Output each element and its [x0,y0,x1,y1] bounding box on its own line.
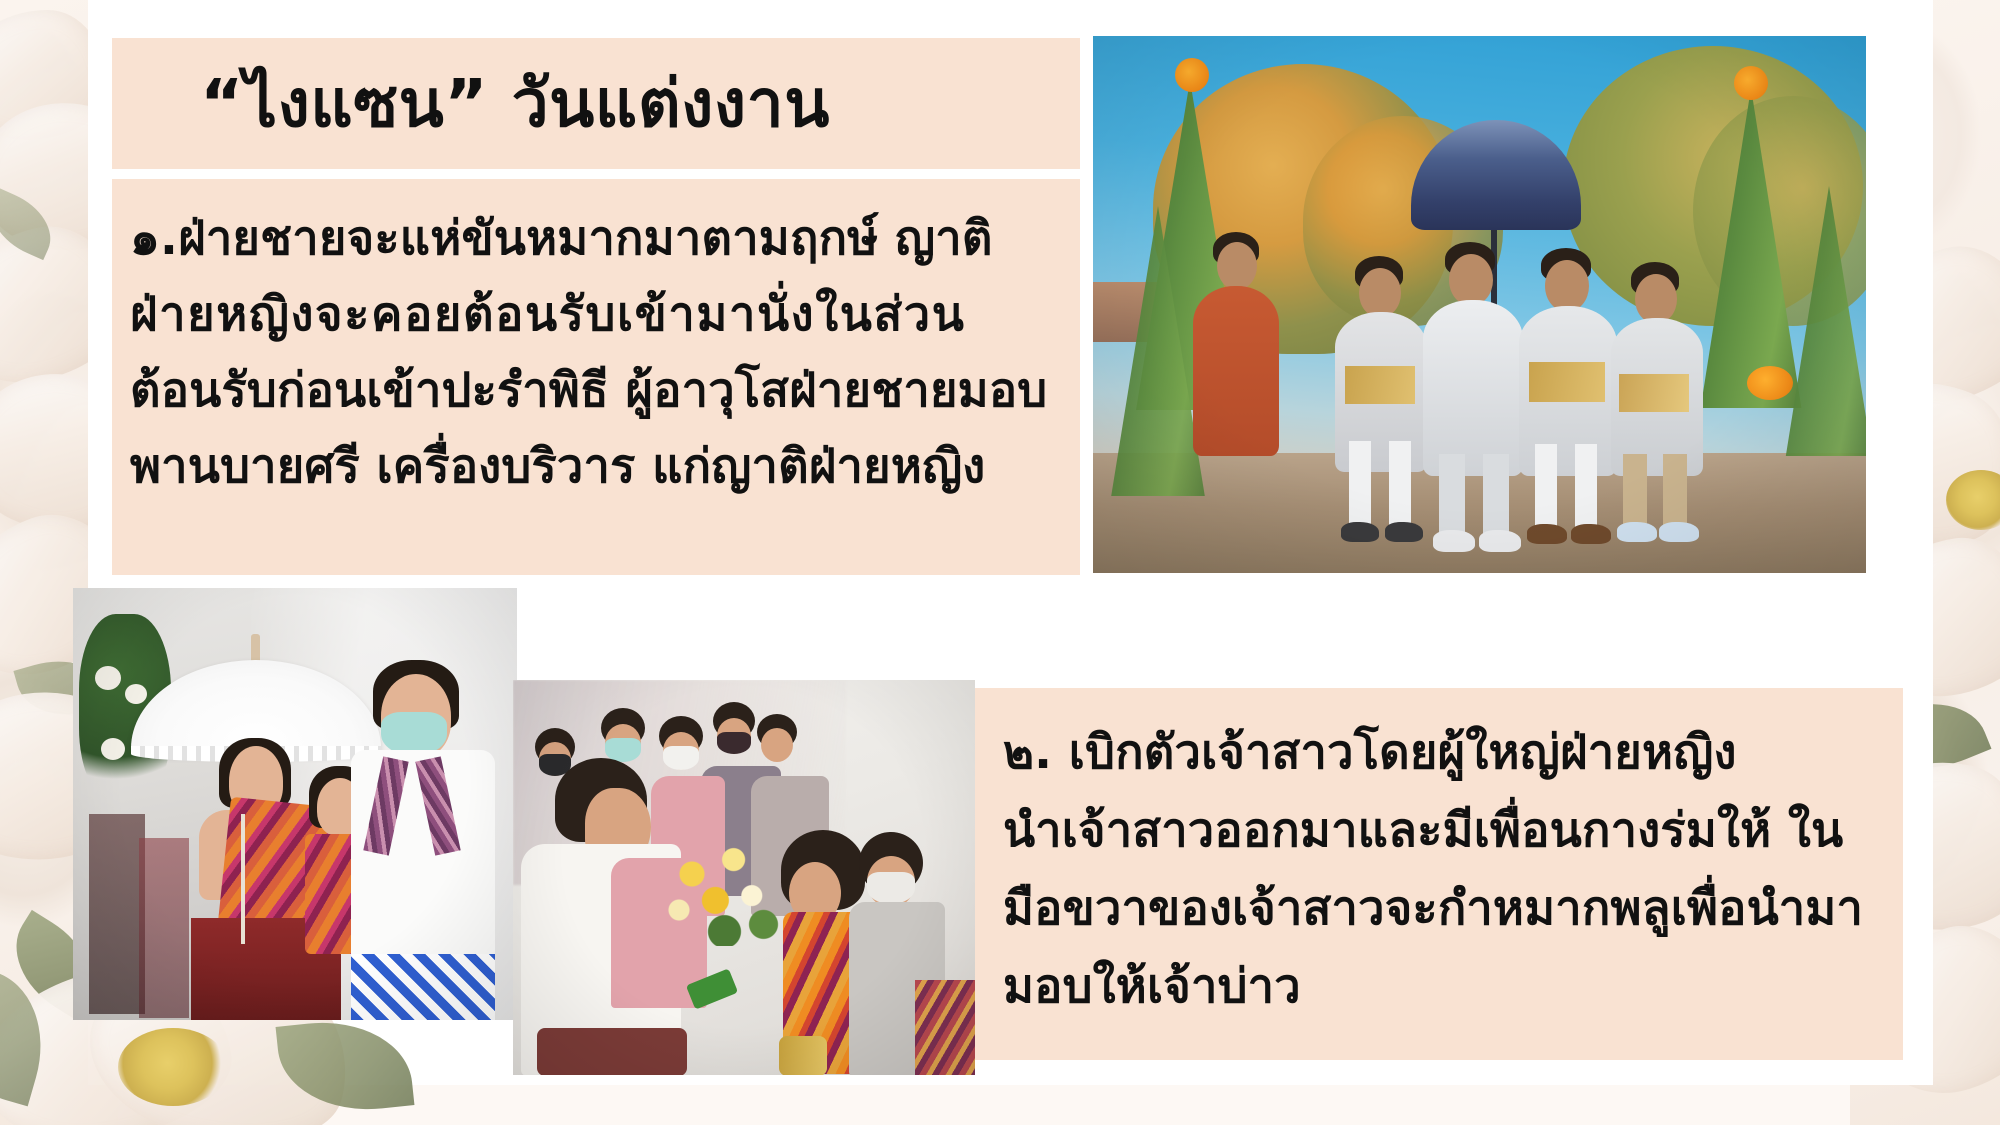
section-two-line-4: มอบให้เจ้าบ่าว [1003,948,1881,1026]
section-one-line-3: ต้อนรับก่อนเข้าปะรำพิธี ผู้อาวุโสฝ่ายชาย… [130,353,1062,429]
groom-body [1423,300,1523,476]
shoe [1433,530,1475,552]
section-one-text: ๑.ฝ่ายชายจะแห่ขันหมากมาตามฤกษ์ ญาติ ฝ่าย… [130,201,1062,506]
section-two-box: ๒. เบิกตัวเจ้าสาวโดยผู้ใหญ่ฝ่ายหญิง นำเจ… [975,688,1903,1060]
section-one-line-4: พานบายศรี เครื่องบริวาร แก่ญาติฝ่ายหญิง [130,429,1062,505]
person-leg [1663,454,1687,526]
shoe [1617,522,1657,542]
shoe [1385,522,1423,542]
shoe [1479,530,1521,552]
section-two-line-2: นำเจ้าสาวออกมาและมีเพื่อนกางร่มให้ ใน [1003,792,1881,870]
photo-bride-parasol [73,588,517,1020]
section-two-line-3: มือขวาของเจ้าสาวจะกำหมากพลูเพื่อนำมา [1003,870,1881,948]
white-flower-decor [125,684,147,704]
section-one-line-1: ๑.ฝ่ายชายจะแห่ขันหมากมาตามฤกษ์ ญาติ [130,201,1062,277]
person-head [1359,268,1401,318]
marigold-topper [1734,66,1768,100]
person-body [1193,286,1279,456]
man-lower-garment [537,1028,687,1075]
shoe [1527,524,1567,544]
white-flower-decor [101,738,125,760]
gold-sash [1619,374,1689,412]
gold-sash [1529,362,1605,402]
shoe [1341,522,1379,542]
person-leg [1535,444,1557,528]
background-figure [139,838,189,1018]
section-one-line-2: ฝ่ายหญิงจะคอยต้อนรับเข้ามานั่งในส่วน [130,277,1062,353]
shoe [1659,522,1699,542]
person-head [1217,242,1257,290]
gold-sash [1345,366,1415,404]
person-leg [1575,444,1597,528]
slide-title-box: “ไงแซน” วันแต่งงาน [112,38,1080,169]
section-two-text: ๒. เบิกตัวเจ้าสาวโดยผู้ใหญ่ฝ่ายหญิง นำเจ… [1003,714,1881,1026]
photo-procession [1093,36,1866,573]
white-flower-decor [95,666,121,690]
page-title: “ไงแซน” วันแต่งงาน [200,71,830,137]
person-head [1635,274,1677,324]
groom-leg [1483,454,1509,534]
section-one-box: ๑.ฝ่ายชายจะแห่ขันหมากมาตามฤกษ์ ญาติ ฝ่าย… [112,179,1080,575]
person-leg [1623,454,1647,526]
flower-bouquet [653,826,783,946]
guest-patterned-skirt [915,980,975,1075]
section-two-line-1: ๒. เบิกตัวเจ้าสาวโดยผู้ใหญ่ฝ่ายหญิง [1003,714,1881,792]
guest-face [761,728,793,762]
face-mask [663,746,699,770]
marigold-topper [1175,58,1209,92]
marigold-cluster [1747,366,1793,400]
background-figure [89,814,145,1014]
groom-head [1449,254,1493,306]
bride-necklace [241,814,245,944]
person-leg [1389,441,1411,527]
slide-root: “ไงแซน” วันแต่งงาน ๑.ฝ่ายชายจะแห่ขันหมาก… [0,0,2000,1125]
shoe [1571,524,1611,544]
rose-center [118,1028,228,1106]
person-head [1545,260,1589,312]
photo-seated-guests [513,680,975,1075]
face-mask [717,732,751,754]
elder-blue-skirt [351,954,495,1020]
groom-leg [1439,454,1465,534]
face-mask [867,872,915,904]
person-leg [1349,441,1371,527]
gold-belt [779,1036,827,1075]
